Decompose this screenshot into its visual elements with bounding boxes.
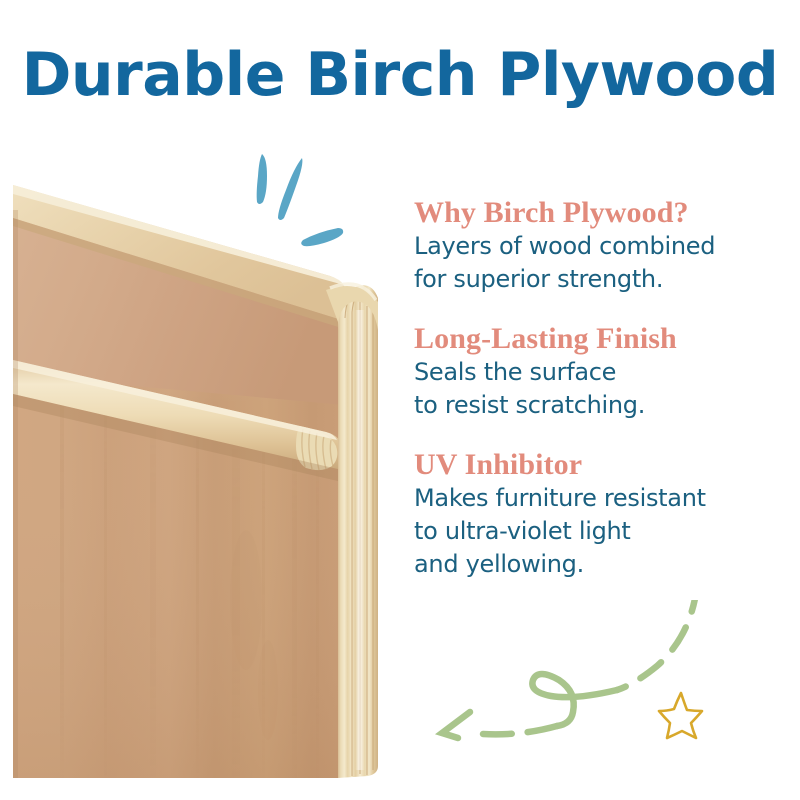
feature-body-line: Seals the surface bbox=[414, 356, 774, 389]
infographic-canvas: Durable Birch Plywood bbox=[0, 0, 800, 800]
feature-body-line: Makes furniture resistant bbox=[414, 482, 774, 515]
feature-heading: Why Birch Plywood? bbox=[414, 196, 774, 230]
photo-left-crop bbox=[0, 170, 13, 785]
sparkle-marks-icon bbox=[240, 148, 370, 263]
feature-body-line: to ultra-violet light bbox=[414, 515, 774, 548]
feature-body-line: to resist scratching. bbox=[414, 389, 774, 422]
star-icon bbox=[653, 688, 707, 742]
feature-item: Why Birch Plywood? Layers of wood combin… bbox=[414, 196, 774, 296]
feature-heading: UV Inhibitor bbox=[414, 448, 774, 482]
feature-body-line: for superior strength. bbox=[414, 263, 774, 296]
page-title: Durable Birch Plywood bbox=[0, 44, 800, 106]
feature-heading: Long-Lasting Finish bbox=[414, 322, 774, 356]
inner-corner-shadow bbox=[13, 210, 18, 778]
feature-item: UV Inhibitor Makes furniture resistant t… bbox=[414, 448, 774, 581]
feature-body-line: Layers of wood combined bbox=[414, 230, 774, 263]
feature-body-line: and yellowing. bbox=[414, 548, 774, 581]
feature-item: Long-Lasting Finish Seals the surface to… bbox=[414, 322, 774, 422]
feature-list: Why Birch Plywood? Layers of wood combin… bbox=[414, 196, 774, 581]
photo-bottom-crop bbox=[0, 778, 400, 785]
